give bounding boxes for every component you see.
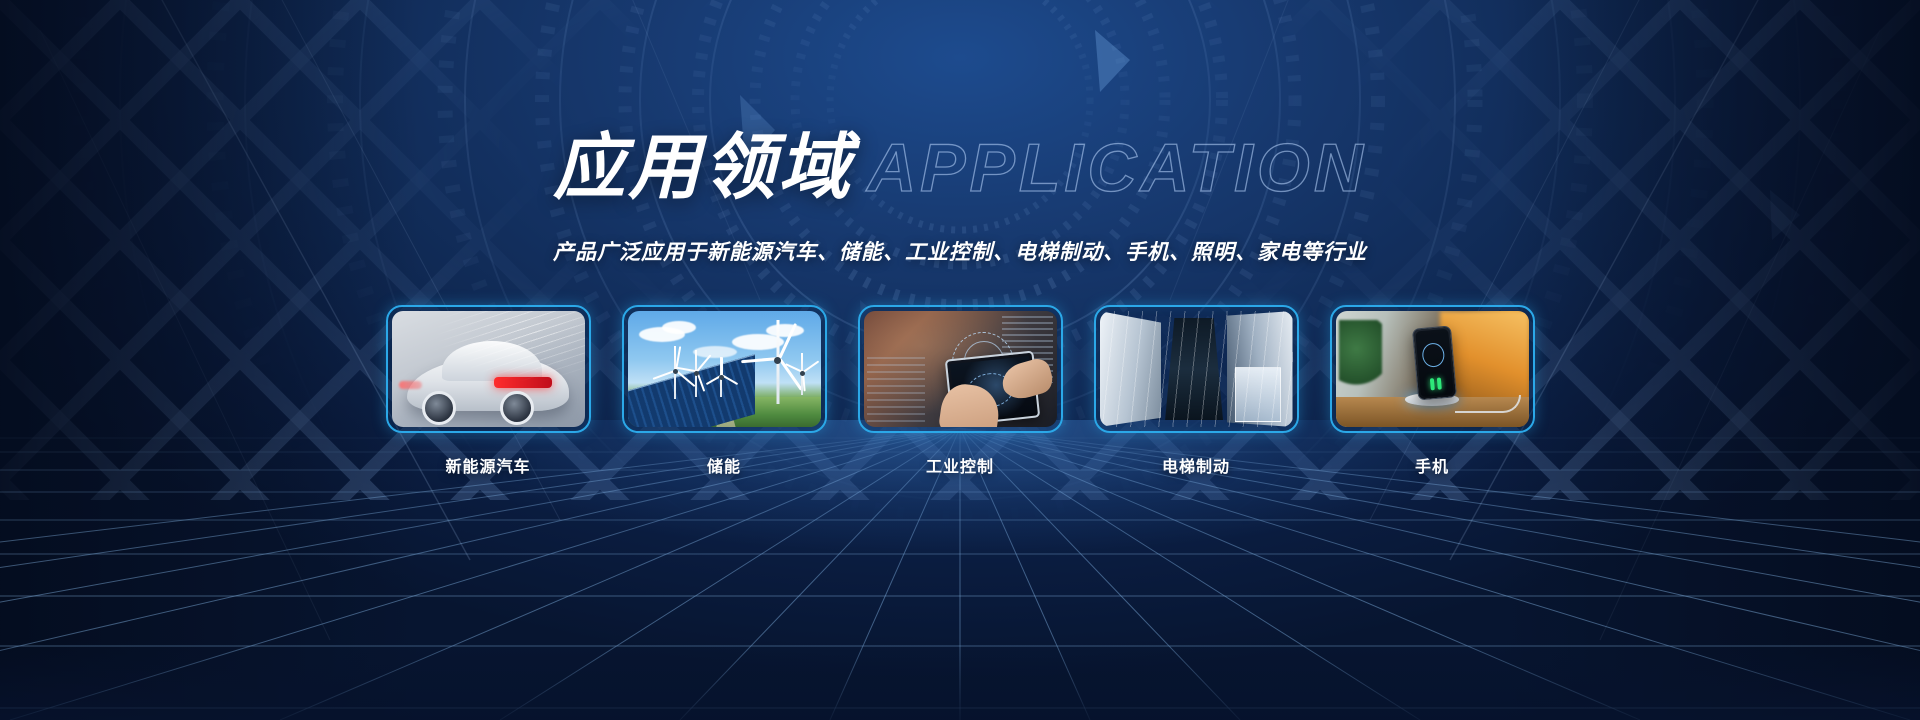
card-frame[interactable] — [1094, 305, 1299, 433]
industrial-control-photo — [864, 311, 1057, 427]
page-title: 应用领域 — [553, 132, 853, 204]
elevator-brake-photo — [1100, 311, 1293, 427]
energy-storage-photo — [628, 311, 821, 427]
page-title-english: APPLICATION — [867, 134, 1367, 202]
title-row: 应用领域 APPLICATION — [0, 118, 1920, 218]
ev-car-photo — [392, 311, 585, 427]
card-frame[interactable] — [858, 305, 1063, 433]
card-label: 手机 — [1415, 453, 1449, 477]
page-subtitle: 产品广泛应用于新能源汽车、储能、工业控制、电梯制动、手机、照明、家电等行业 — [0, 236, 1920, 266]
card-frame[interactable] — [1330, 305, 1535, 433]
card-label: 储能 — [707, 453, 741, 477]
card-label: 工业控制 — [926, 453, 994, 477]
mobile-phone-photo — [1336, 311, 1529, 427]
card-frame[interactable] — [622, 305, 827, 433]
application-card-energy-storage[interactable]: 储能 — [622, 305, 827, 477]
floor-haze — [0, 640, 1920, 720]
card-frame[interactable] — [386, 305, 591, 433]
application-card-mobile-phone[interactable]: 手机 — [1330, 305, 1535, 477]
application-card-industrial-control[interactable]: 工业控制 — [858, 305, 1063, 477]
application-card-new-energy-vehicle[interactable]: 新能源汽车 — [386, 305, 591, 477]
banner-header: 应用领域 APPLICATION 产品广泛应用于新能源汽车、储能、工业控制、电梯… — [0, 0, 1920, 266]
card-label: 电梯制动 — [1162, 453, 1230, 477]
application-card-elevator-brake[interactable]: 电梯制动 — [1094, 305, 1299, 477]
application-banner: 应用领域 APPLICATION 产品广泛应用于新能源汽车、储能、工业控制、电梯… — [0, 0, 1920, 720]
application-card-list: 新能源汽车 — [0, 305, 1920, 477]
card-label: 新能源汽车 — [445, 453, 530, 477]
